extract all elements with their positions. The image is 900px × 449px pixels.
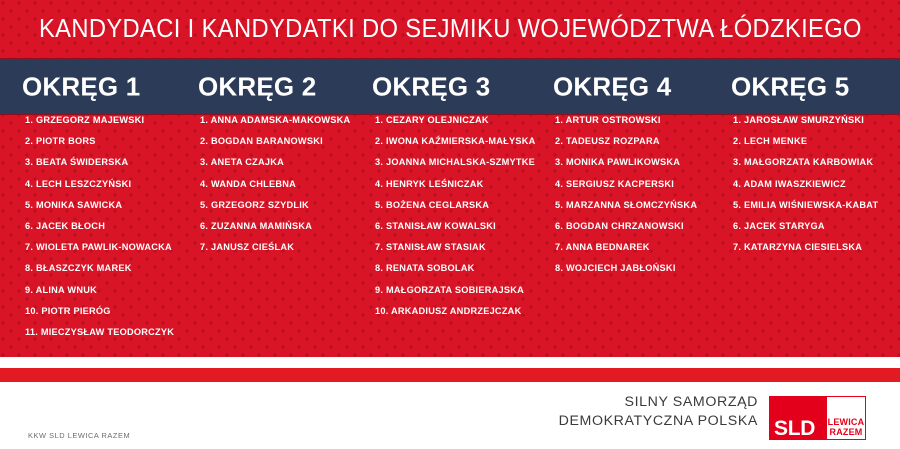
- candidate-item: 7. ANNA BEDNAREK: [555, 242, 740, 252]
- candidate-item: 3. MAŁGORZATA KARBOWIAK: [733, 157, 900, 167]
- candidate-item: 4. WANDA CHLEBNA: [200, 179, 385, 189]
- candidate-item: 2. LECH MENKE: [733, 136, 900, 146]
- candidate-item: 4. LECH LESZCZYŃSKI: [25, 179, 210, 189]
- candidate-item: 7. STANISŁAW STASIAK: [375, 242, 560, 252]
- candidate-item: 5. MARZANNA SŁOMCZYŃSKA: [555, 200, 740, 210]
- candidate-item: 2. PIOTR BORS: [25, 136, 210, 146]
- district-title-2: OKRĘG 2: [198, 71, 316, 102]
- poster-body: KANDYDACI I KANDYDATKI DO SEJMIKU WOJEWÓ…: [0, 0, 900, 357]
- candidate-item: 5. BOŻENA CEGLARSKA: [375, 200, 560, 210]
- candidate-item: 6. JACEK BŁOCH: [25, 221, 210, 231]
- candidate-item: 8. WOJCIECH JABŁOŃSKI: [555, 263, 740, 273]
- candidate-item: 4. SERGIUSZ KACPERSKI: [555, 179, 740, 189]
- candidate-item: 8. RENATA SOBOLAK: [375, 263, 560, 273]
- sld-logo-red-block: SLD: [769, 396, 826, 440]
- candidate-item: 5. GRZEGORZ SZYDLIK: [200, 200, 385, 210]
- red-divider-stripe: [0, 368, 900, 382]
- candidate-columns: 1. GRZEGORZ MAJEWSKI2. PIOTR BORS3. BEAT…: [0, 115, 900, 357]
- candidate-item: 1. ARTUR OSTROWSKI: [555, 115, 740, 125]
- candidate-item: 7. KATARZYNA CIESIELSKA: [733, 242, 900, 252]
- candidate-item: 6. JACEK STARYGA: [733, 221, 900, 231]
- candidate-item: 10. ARKADIUSZ ANDRZEJCZAK: [375, 306, 560, 316]
- candidate-column-2: 1. ANNA ADAMSKA-MAKOWSKA2. BOGDAN BARANO…: [200, 115, 385, 263]
- sld-logo-white-block: LEWICA RAZEM: [826, 396, 866, 440]
- candidate-item: 2. IWONA KAŹMIERSKA-MAŁYSKA: [375, 136, 560, 146]
- sld-logo-subtext-line-1: LEWICA: [828, 417, 865, 427]
- candidate-item: 4. HENRYK LEŚNICZAK: [375, 179, 560, 189]
- candidate-item: 9. MAŁGORZATA SOBIERAJSKA: [375, 285, 560, 295]
- candidate-item: 7. JANUSZ CIEŚLAK: [200, 242, 385, 252]
- candidate-item: 1. JAROSŁAW SMURZYŃSKI: [733, 115, 900, 125]
- headline-banner: KANDYDACI I KANDYDATKI DO SEJMIKU WOJEWÓ…: [0, 0, 900, 58]
- candidate-item: 1. ANNA ADAMSKA-MAKOWSKA: [200, 115, 385, 125]
- district-title-4: OKRĘG 4: [553, 71, 671, 102]
- sld-logo-subtext-line-2: RAZEM: [830, 427, 863, 437]
- candidate-item: 5. EMILIA WIŚNIEWSKA-KABAT: [733, 200, 900, 210]
- candidate-item: 5. MONIKA SAWICKA: [25, 200, 210, 210]
- candidate-item: 9. ALINA WNUK: [25, 285, 210, 295]
- candidate-item: 3. ANETA CZAJKA: [200, 157, 385, 167]
- district-title-3: OKRĘG 3: [372, 71, 490, 102]
- district-title-5: OKRĘG 5: [731, 71, 849, 102]
- footer: KKW SLD LEWICA RAZEM SILNY SAMORZĄD DEMO…: [0, 382, 900, 449]
- candidate-item: 3. BEATA ŚWIDERSKA: [25, 157, 210, 167]
- slogan-line-1: SILNY SAMORZĄD: [559, 393, 758, 412]
- candidate-item: 11. MIECZYSŁAW TEODORCZYK: [25, 327, 210, 337]
- candidate-item: 7. WIOLETA PAWLIK-NOWACKA: [25, 242, 210, 252]
- candidate-item: 2. BOGDAN BARANOWSKI: [200, 136, 385, 146]
- sld-logo-subtext-box: LEWICA RAZEM: [827, 397, 865, 439]
- district-title-1: OKRĘG 1: [22, 71, 140, 102]
- page-title: KANDYDACI I KANDYDATKI DO SEJMIKU WOJEWÓ…: [39, 15, 862, 44]
- district-title-row: OKRĘG 1OKRĘG 2OKRĘG 3OKRĘG 4OKRĘG 5: [0, 59, 900, 114]
- candidate-item: 6. ZUZANNA MAMIŃSKA: [200, 221, 385, 231]
- candidate-item: 10. PIOTR PIERÓG: [25, 306, 210, 316]
- sld-logo-text: SLD: [774, 418, 815, 439]
- candidate-column-4: 1. ARTUR OSTROWSKI2. TADEUSZ ROZPARA3. M…: [555, 115, 740, 285]
- committee-disclaimer: KKW SLD LEWICA RAZEM: [28, 431, 130, 440]
- candidate-item: 8. BŁASZCZYK MAREK: [25, 263, 210, 273]
- candidate-item: 6. STANISŁAW KOWALSKI: [375, 221, 560, 231]
- candidate-item: 1. CEZARY OLEJNICZAK: [375, 115, 560, 125]
- white-divider: [0, 357, 900, 368]
- candidate-item: 3. MONIKA PAWLIKOWSKA: [555, 157, 740, 167]
- slogan-line-2: DEMOKRATYCZNA POLSKA: [559, 412, 758, 431]
- candidate-item: 6. BOGDAN CHRZANOWSKI: [555, 221, 740, 231]
- candidate-item: 4. ADAM IWASZKIEWICZ: [733, 179, 900, 189]
- candidate-column-5: 1. JAROSŁAW SMURZYŃSKI2. LECH MENKE3. MA…: [733, 115, 900, 263]
- sld-logo: SLD LEWICA RAZEM: [769, 396, 866, 440]
- candidate-item: 2. TADEUSZ ROZPARA: [555, 136, 740, 146]
- district-header-band: OKRĘG 1OKRĘG 2OKRĘG 3OKRĘG 4OKRĘG 5: [0, 58, 900, 115]
- campaign-slogan: SILNY SAMORZĄD DEMOKRATYCZNA POLSKA: [559, 393, 758, 430]
- candidate-item: 3. JOANNA MICHALSKA-SZMYTKE: [375, 157, 560, 167]
- candidate-column-3: 1. CEZARY OLEJNICZAK2. IWONA KAŹMIERSKA-…: [375, 115, 560, 327]
- candidate-item: 1. GRZEGORZ MAJEWSKI: [25, 115, 210, 125]
- candidate-column-1: 1. GRZEGORZ MAJEWSKI2. PIOTR BORS3. BEAT…: [25, 115, 210, 348]
